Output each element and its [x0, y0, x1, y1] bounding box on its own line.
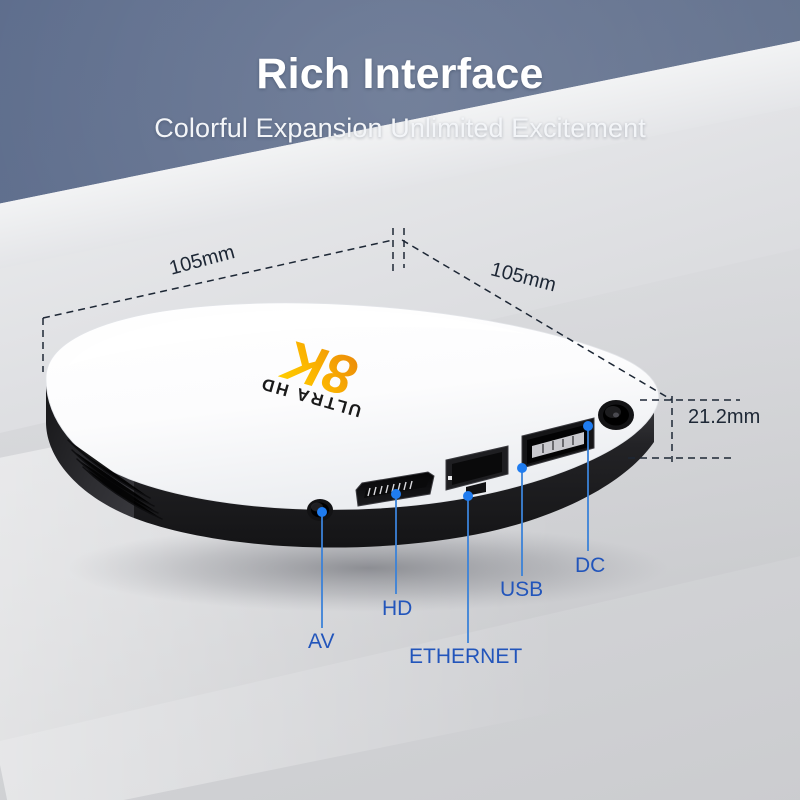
port-callouts: AV HD ETHERNET USB DC [0, 0, 800, 800]
port-label-dc: DC [575, 554, 605, 578]
dot-av [317, 507, 327, 517]
callout-leader-lines [322, 428, 588, 643]
dot-ethernet [463, 491, 473, 501]
callout-anchor-dots [317, 421, 593, 517]
dot-dc [583, 421, 593, 431]
port-label-ethernet: ETHERNET [409, 645, 522, 669]
product-infographic: Rich Interface Colorful Expansion Unlimi… [0, 0, 800, 800]
dot-usb [517, 463, 527, 473]
port-label-av: AV [308, 630, 334, 654]
port-label-hd: HD [382, 597, 412, 621]
dot-hd [391, 489, 401, 499]
port-label-usb: USB [500, 578, 543, 602]
